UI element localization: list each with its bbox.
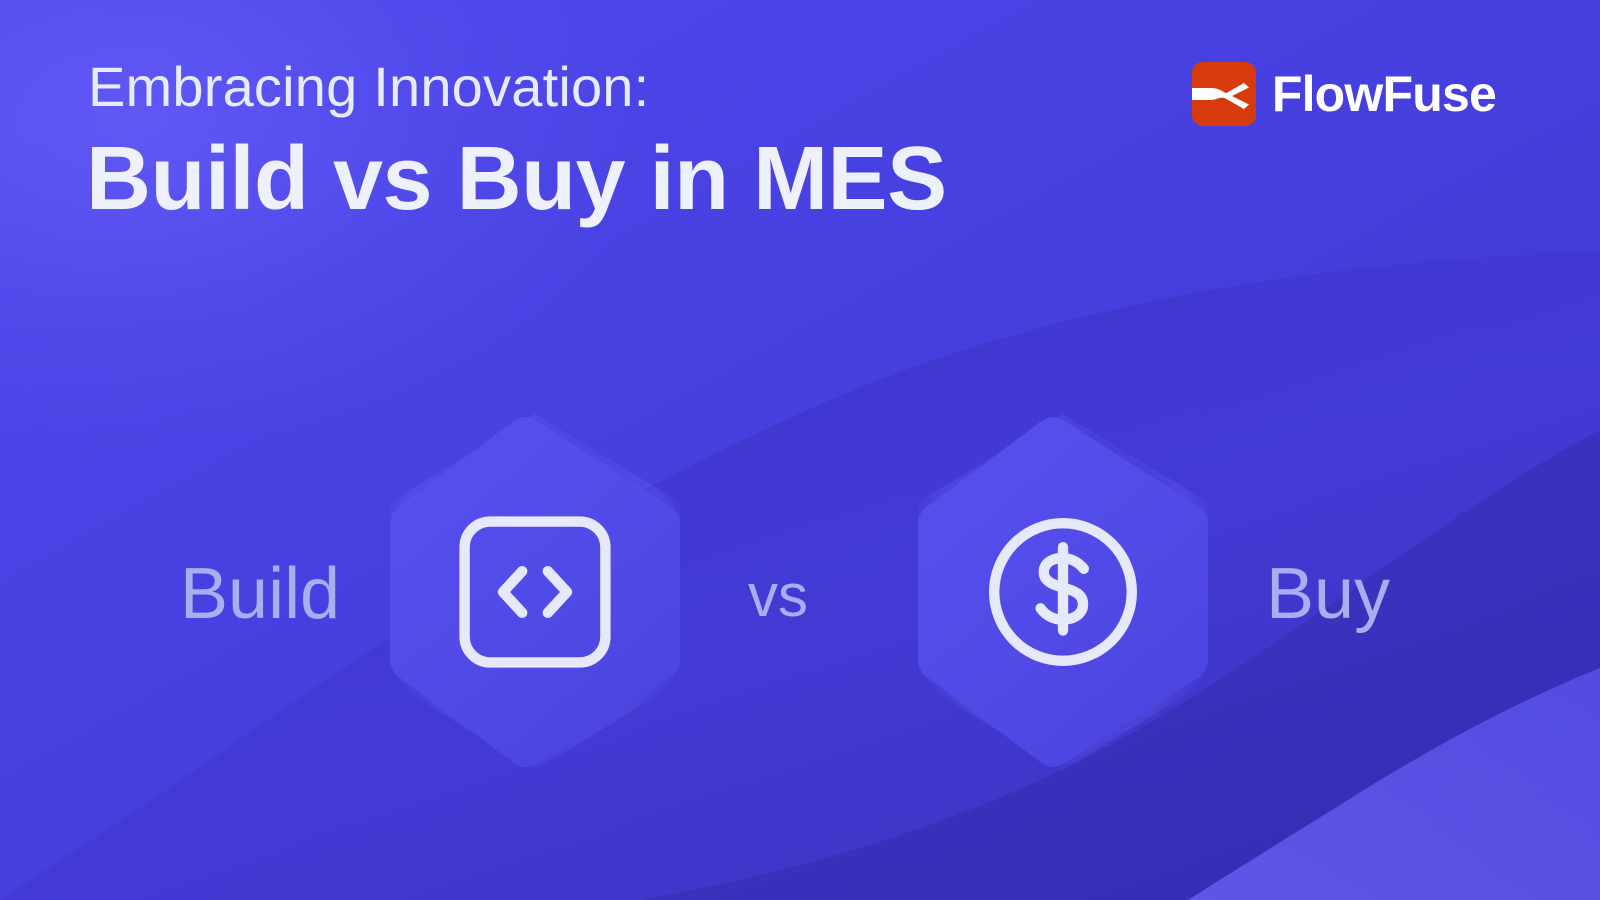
flowfuse-logo-icon [1192, 62, 1256, 126]
buy-hexagon [898, 410, 1228, 774]
page-title: Build vs Buy in MES [86, 132, 947, 227]
banner-header: Embracing Innovation: Build vs Buy in ME… [0, 0, 1600, 260]
buy-label: Buy [1266, 558, 1390, 630]
flowfuse-wordmark: FlowFuse [1272, 69, 1496, 119]
dollar-circle-icon [983, 512, 1143, 672]
build-hexagon [370, 410, 700, 774]
build-label: Build [180, 558, 340, 630]
flowfuse-logo[interactable]: FlowFuse [1192, 58, 1496, 130]
banner-graphic: Embracing Innovation: Build vs Buy in ME… [0, 0, 1600, 900]
eyebrow-text: Embracing Innovation: [88, 58, 649, 117]
versus-label: vs [748, 566, 808, 626]
code-brackets-icon [455, 512, 615, 672]
comparison-row: Build [0, 390, 1600, 810]
